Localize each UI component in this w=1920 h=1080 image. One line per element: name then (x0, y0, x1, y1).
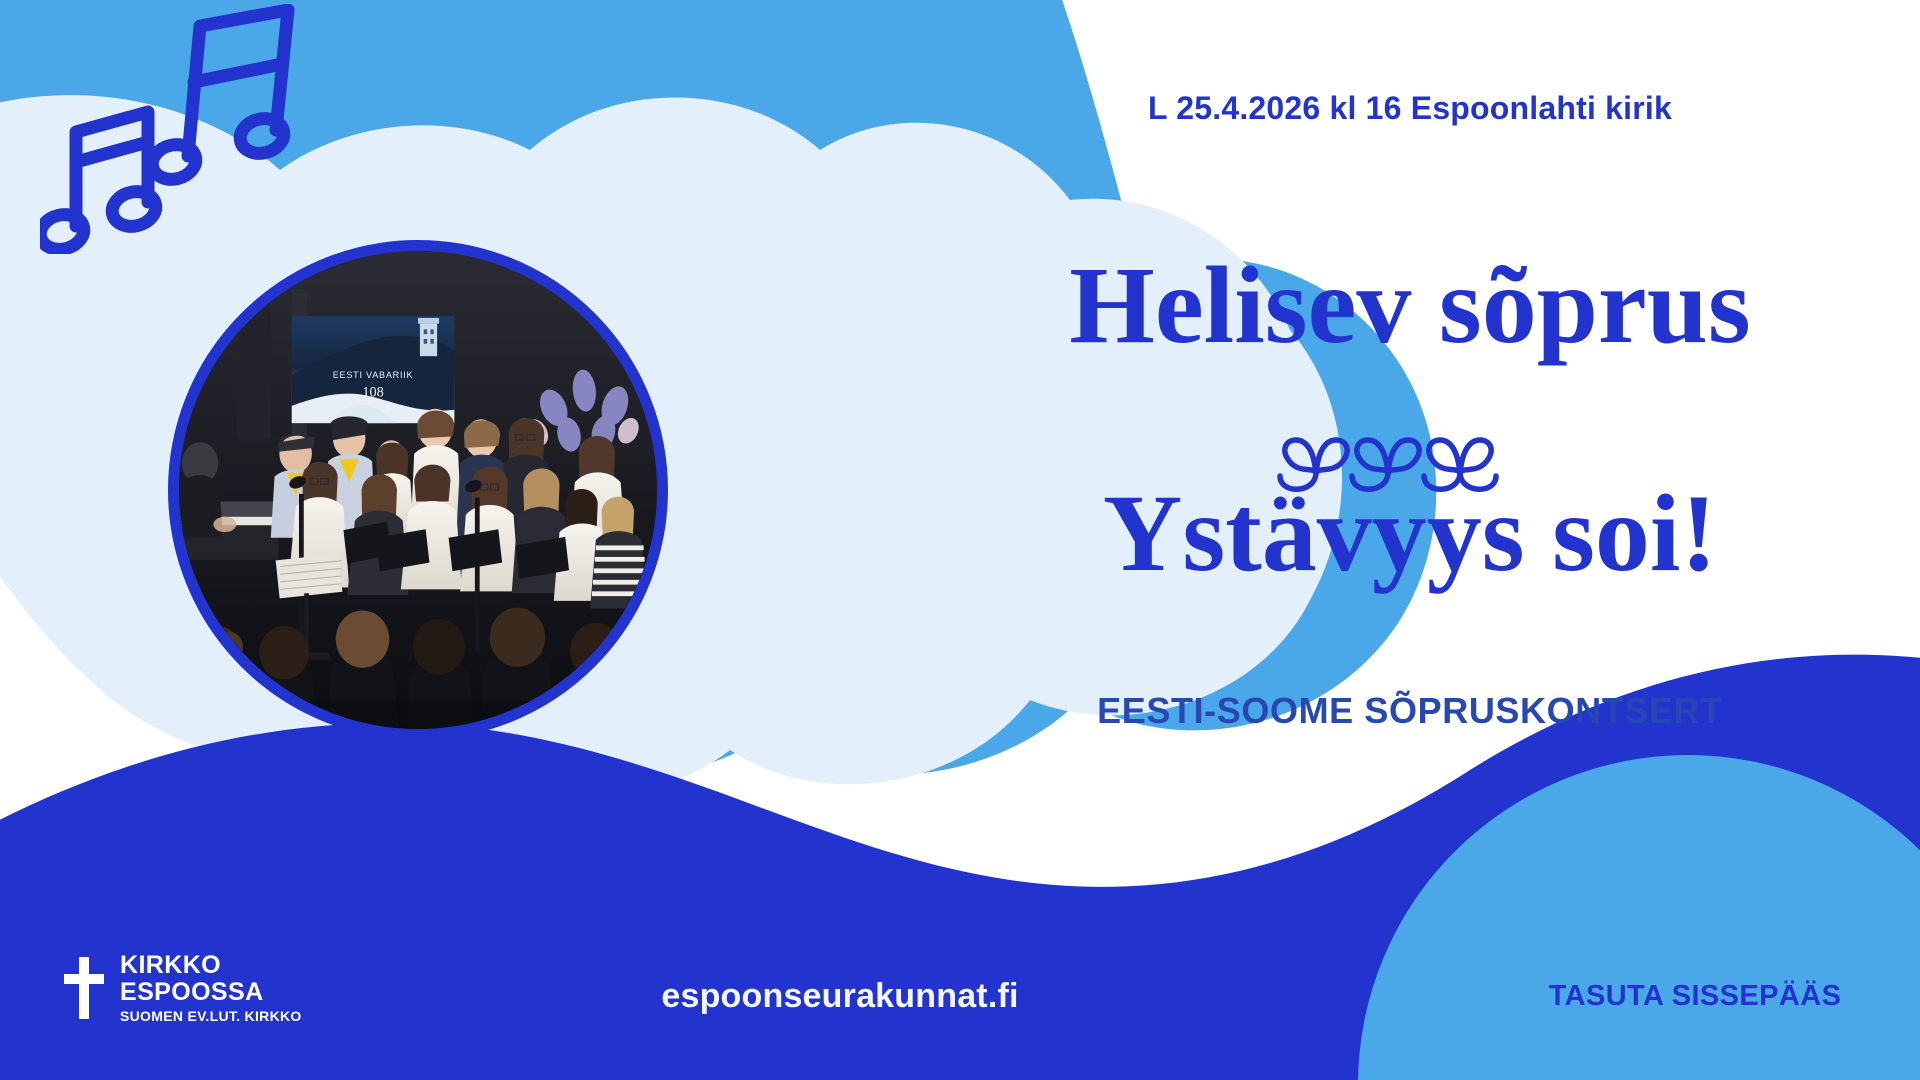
logo-line-2: ESPOOSSA (120, 979, 302, 1006)
logo-line-1: KIRKKO (120, 952, 302, 979)
choir-photo: EESTI VABARIIK 108 (168, 240, 668, 740)
svg-text:EESTI VABARIIK: EESTI VABARIIK (333, 370, 414, 380)
logo-line-3: SUOMEN EV.LUT. KIRKKO (120, 1008, 302, 1024)
poster-subtitle: EESTI-SOOME SÕPRUSKONTSERT (900, 690, 1920, 732)
concert-poster: EESTI VABARIIK 108 (0, 0, 1920, 1080)
projection-screen: EESTI VABARIIK 108 (292, 316, 455, 423)
church-logo: KIRKKO ESPOOSSA SUOMEN EV.LUT. KIRKKO (62, 952, 302, 1024)
choir-photo-image: EESTI VABARIIK 108 (179, 251, 657, 729)
music-notes-icon (40, 4, 340, 254)
church-logo-text: KIRKKO ESPOOSSA SUOMEN EV.LUT. KIRKKO (120, 952, 302, 1024)
cross-icon (62, 957, 106, 1019)
event-date-line: L 25.4.2026 kl 16 Espoonlahti kirik (900, 90, 1920, 127)
title-finnish: Ystävyys soi! (900, 478, 1920, 588)
svg-text:108: 108 (362, 384, 384, 400)
title-estonian: Helisev sõprus (900, 250, 1920, 360)
free-entry-badge: TASUTA SISSEPÄÄS (1530, 980, 1860, 1013)
poster-text-column: L 25.4.2026 kl 16 Espoonlahti kirik Heli… (900, 0, 1920, 1080)
website-url[interactable]: espoonseurakunnat.fi (580, 977, 1100, 1016)
